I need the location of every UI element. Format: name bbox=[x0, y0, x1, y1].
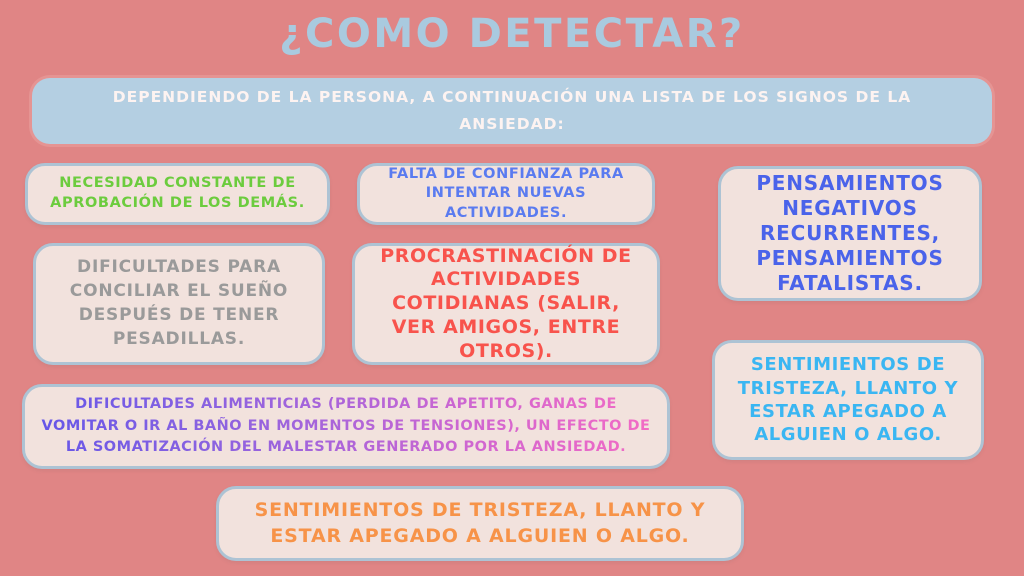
symptom-card-tristeza-orange-text: SENTIMIENTOS DE TRISTEZA, LLANTO Y ESTAR… bbox=[231, 498, 729, 549]
symptom-card-tristeza-orange: SENTIMIENTOS DE TRISTEZA, LLANTO Y ESTAR… bbox=[216, 486, 744, 561]
symptom-card-confianza: FALTA DE CONFIANZA PARA INTENTAR NUEVAS … bbox=[357, 163, 655, 225]
symptom-card-confianza-text: FALTA DE CONFIANZA PARA INTENTAR NUEVAS … bbox=[372, 165, 640, 224]
infographic-slide: ¿COMO DETECTAR? DEPENDIENDO DE LA PERSON… bbox=[0, 0, 1024, 576]
symptom-card-tristeza-cyan-text: SENTIMIENTOS DE TRISTEZA, LLANTO Y ESTAR… bbox=[727, 353, 969, 447]
symptom-card-alimenticias-text: DIFICULTADES ALIMENTICIAS (PERDIDA DE AP… bbox=[37, 394, 655, 459]
subtitle-banner-text: DEPENDIENDO DE LA PERSONA, A CONTINUACIÓ… bbox=[58, 84, 966, 138]
subtitle-banner: DEPENDIENDO DE LA PERSONA, A CONTINUACIÓ… bbox=[32, 78, 992, 144]
symptom-card-sueno-text: DIFICULTADES PARA CONCILIAR EL SUEÑO DES… bbox=[48, 256, 310, 351]
page-title: ¿COMO DETECTAR? bbox=[0, 12, 1024, 56]
symptom-card-tristeza-cyan: SENTIMIENTOS DE TRISTEZA, LLANTO Y ESTAR… bbox=[712, 340, 984, 460]
symptom-card-procrastinacion: PROCRASTINACIÓN DE ACTIVIDADES COTIDIANA… bbox=[352, 243, 660, 365]
symptom-card-pensamientos: PENSAMIENTOS NEGATIVOS RECURRENTES, PENS… bbox=[718, 166, 982, 301]
symptom-card-aprobacion-text: NECESIDAD CONSTANTE DE APROBACIÓN DE LOS… bbox=[40, 174, 315, 213]
symptom-card-procrastinacion-text: PROCRASTINACIÓN DE ACTIVIDADES COTIDIANA… bbox=[367, 245, 645, 364]
symptom-card-pensamientos-text: PENSAMIENTOS NEGATIVOS RECURRENTES, PENS… bbox=[733, 171, 967, 296]
symptom-card-sueno: DIFICULTADES PARA CONCILIAR EL SUEÑO DES… bbox=[33, 243, 325, 365]
symptom-card-alimenticias: DIFICULTADES ALIMENTICIAS (PERDIDA DE AP… bbox=[22, 384, 670, 469]
symptom-card-aprobacion: NECESIDAD CONSTANTE DE APROBACIÓN DE LOS… bbox=[25, 163, 330, 225]
